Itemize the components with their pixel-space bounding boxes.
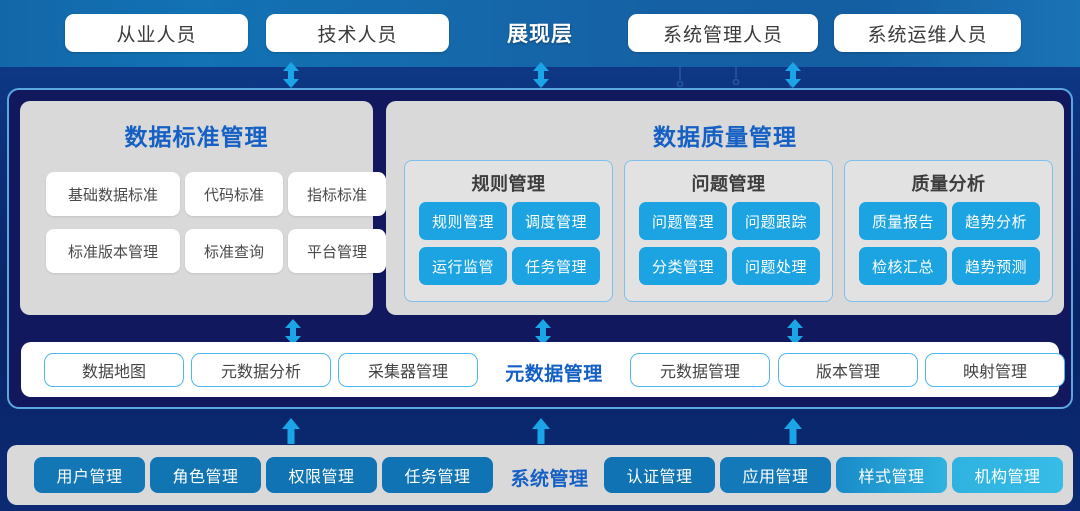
chip-label: 趋势预测 <box>965 256 1027 277</box>
metadata-chip-metadata-analysis[interactable]: 元数据分析 <box>191 353 331 387</box>
chip-label: 数据地图 <box>82 358 146 382</box>
chip-label: 认证管理 <box>626 463 692 487</box>
quality-chip-trend-forecast[interactable]: 趋势预测 <box>952 247 1040 285</box>
system-chip-permission-manage[interactable]: 权限管理 <box>266 457 377 493</box>
presentation-layer-title-text: 展现层 <box>507 23 573 46</box>
chip-label: 运行监管 <box>432 256 494 277</box>
standard-chip-indicator[interactable]: 指标标准 <box>288 172 386 216</box>
quality-chip-issue-manage[interactable]: 问题管理 <box>639 202 727 240</box>
chip-label: 版本管理 <box>816 358 880 382</box>
standard-chip-query[interactable]: 标准查询 <box>185 229 283 273</box>
system-chip-style-manage[interactable]: 样式管理 <box>836 457 947 493</box>
double-arrow-center <box>532 62 550 88</box>
presentation-layer-band: 从业人员 技术人员 展现层 系统管理人员 系统运维人员 <box>0 0 1080 67</box>
chip-label: 检核汇总 <box>872 256 934 277</box>
chip-label: 问题跟踪 <box>745 211 807 232</box>
up-arrow-left <box>281 418 301 444</box>
chip-label: 角色管理 <box>172 463 238 487</box>
system-management-title-text: 系统管理 <box>510 469 588 490</box>
chip-label: 标准版本管理 <box>68 241 158 262</box>
quality-chip-schedule-manage[interactable]: 调度管理 <box>512 202 600 240</box>
quality-chip-check-summary[interactable]: 检核汇总 <box>859 247 947 285</box>
quality-chip-task-manage[interactable]: 任务管理 <box>512 247 600 285</box>
quality-chip-category-manage[interactable]: 分类管理 <box>639 247 727 285</box>
quality-chip-rule-manage[interactable]: 规则管理 <box>419 202 507 240</box>
chip-label: 标准查询 <box>204 241 264 262</box>
chip-label: 样式管理 <box>858 463 924 487</box>
quality-group-quality-analysis: 质量分析 质量报告 趋势分析 检核汇总 趋势预测 <box>844 160 1053 302</box>
standard-chip-code[interactable]: 代码标准 <box>185 172 283 216</box>
quality-group-issue-management: 问题管理 问题管理 问题跟踪 分类管理 问题处理 <box>624 160 833 302</box>
data-standard-title: 数据标准管理 <box>20 118 373 152</box>
system-chip-org-manage[interactable]: 机构管理 <box>952 457 1063 493</box>
system-chip-auth-manage[interactable]: 认证管理 <box>604 457 715 493</box>
role-chip-system-admin[interactable]: 系统管理人员 <box>628 14 818 52</box>
role-chip-practitioner[interactable]: 从业人员 <box>65 14 248 52</box>
chip-label: 采集器管理 <box>368 358 448 382</box>
up-arrow-right <box>783 418 803 444</box>
quality-group-title-text: 质量分析 <box>912 174 986 194</box>
metadata-chip-version-manage[interactable]: 版本管理 <box>778 353 918 387</box>
system-chip-application-manage[interactable]: 应用管理 <box>720 457 831 493</box>
chip-label: 问题处理 <box>745 256 807 277</box>
quality-chip-runtime-monitor[interactable]: 运行监管 <box>419 247 507 285</box>
chip-label: 基础数据标准 <box>68 184 158 205</box>
role-chip-label: 系统管理人员 <box>663 20 783 47</box>
chip-label: 用户管理 <box>56 463 122 487</box>
data-standard-card: 数据标准管理 基础数据标准 代码标准 指标标准 标准版本管理 标准查询 平台管理 <box>20 101 373 315</box>
standard-chip-version[interactable]: 标准版本管理 <box>46 229 180 273</box>
system-management-band: 用户管理 角色管理 权限管理 任务管理 系统管理 认证管理 应用管理 样式管理 … <box>7 445 1073 505</box>
system-chip-role-manage[interactable]: 角色管理 <box>150 457 261 493</box>
chip-label: 分类管理 <box>652 256 714 277</box>
chip-label: 机构管理 <box>974 463 1040 487</box>
metadata-layer-title-text: 元数据管理 <box>505 364 603 385</box>
data-quality-title: 数据质量管理 <box>386 118 1064 152</box>
metadata-layer-title: 元数据管理 <box>489 359 619 386</box>
role-chip-label: 技术人员 <box>317 20 397 47</box>
chip-label: 趋势分析 <box>965 211 1027 232</box>
data-standard-title-text: 数据标准管理 <box>125 124 269 150</box>
double-arrow-left <box>282 62 300 88</box>
system-management-title: 系统管理 <box>497 464 602 491</box>
role-chip-technician[interactable]: 技术人员 <box>266 14 449 52</box>
quality-chip-issue-process[interactable]: 问题处理 <box>732 247 820 285</box>
quality-chip-trend-analysis[interactable]: 趋势分析 <box>952 202 1040 240</box>
governance-panel: 数据标准管理 基础数据标准 代码标准 指标标准 标准版本管理 标准查询 平台管理 <box>7 88 1073 409</box>
chip-label: 规则管理 <box>432 211 494 232</box>
double-arrow-right <box>784 62 802 88</box>
chip-label: 平台管理 <box>307 241 367 262</box>
chip-label: 任务管理 <box>525 256 587 277</box>
metadata-chip-data-map[interactable]: 数据地图 <box>44 353 184 387</box>
chip-label: 指标标准 <box>307 184 367 205</box>
quality-group-title: 规则管理 <box>405 170 612 196</box>
quality-group-rule-management: 规则管理 规则管理 调度管理 运行监管 任务管理 <box>404 160 613 302</box>
quality-chip-issue-track[interactable]: 问题跟踪 <box>732 202 820 240</box>
chip-label: 调度管理 <box>525 211 587 232</box>
system-chip-task-manage[interactable]: 任务管理 <box>382 457 493 493</box>
quality-group-title-text: 问题管理 <box>692 174 766 194</box>
role-chip-system-ops[interactable]: 系统运维人员 <box>834 14 1021 52</box>
up-arrow-center <box>531 418 551 444</box>
quality-group-title: 质量分析 <box>845 170 1052 196</box>
system-chip-user-manage[interactable]: 用户管理 <box>34 457 145 493</box>
chip-label: 代码标准 <box>204 184 264 205</box>
architecture-diagram: 从业人员 技术人员 展现层 系统管理人员 系统运维人员 数据标准管理 <box>0 0 1080 511</box>
chip-label: 元数据管理 <box>660 358 740 382</box>
quality-group-title: 问题管理 <box>625 170 832 196</box>
quality-chip-quality-report[interactable]: 质量报告 <box>859 202 947 240</box>
metadata-chip-mapping-manage[interactable]: 映射管理 <box>925 353 1065 387</box>
chip-label: 元数据分析 <box>221 358 301 382</box>
metadata-layer-bar: 数据地图 元数据分析 采集器管理 元数据管理 元数据管理 版本管理 映射管理 <box>21 342 1059 397</box>
chip-label: 映射管理 <box>963 358 1027 382</box>
role-chip-label: 系统运维人员 <box>867 20 987 47</box>
standard-chip-basic-data[interactable]: 基础数据标准 <box>46 172 180 216</box>
chip-label: 权限管理 <box>288 463 354 487</box>
chip-label: 问题管理 <box>652 211 714 232</box>
chip-label: 应用管理 <box>742 463 808 487</box>
quality-group-title-text: 规则管理 <box>472 174 546 194</box>
role-chip-label: 从业人员 <box>116 20 196 47</box>
metadata-chip-collector-manage[interactable]: 采集器管理 <box>338 353 478 387</box>
metadata-chip-metadata-manage[interactable]: 元数据管理 <box>630 353 770 387</box>
standard-chip-platform[interactable]: 平台管理 <box>288 229 386 273</box>
data-quality-title-text: 数据质量管理 <box>653 124 797 150</box>
data-quality-card: 数据质量管理 规则管理 规则管理 调度管理 运行监管 任务管理 <box>386 101 1064 315</box>
presentation-layer-title: 展现层 <box>480 18 600 48</box>
chip-label: 任务管理 <box>404 463 470 487</box>
chip-label: 质量报告 <box>872 211 934 232</box>
